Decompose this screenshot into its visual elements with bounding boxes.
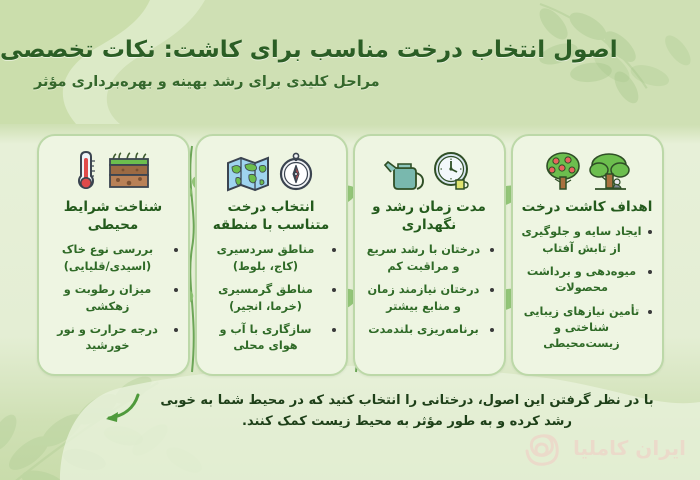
list-item: سازگاری با آب و هوای محلی: [206, 322, 337, 355]
card-icons: [225, 146, 317, 194]
list-item: درختان نیازمند زمان و منابع بیشتر: [364, 282, 495, 315]
list-item: مناطق سردسیری (کاج، بلوط): [206, 242, 337, 275]
card-title: مدت زمان رشد و نگهداری: [364, 198, 495, 234]
card-planting-goals[interactable]: اهداف کاشت درخت ایجاد سایه و جلوگیری از …: [511, 134, 664, 376]
card-title: شناخت شرایط محیطی: [48, 198, 179, 234]
list-item: درختان با رشد سریع و مراقبت کم: [364, 242, 495, 275]
header: اصول انتخاب درخت مناسب برای کاشت: نکات ت…: [0, 0, 700, 128]
compass-icon: [277, 150, 317, 194]
infographic-canvas: اصول انتخاب درخت مناسب برای کاشت: نکات ت…: [0, 0, 700, 480]
watermark: ایران کاملیا: [515, 422, 686, 474]
watering-can-icon: [382, 154, 426, 194]
card-growth-time[interactable]: مدت زمان رشد و نگهداری درختان با رشد سری…: [353, 134, 506, 376]
card-bullet-list: بررسی نوع خاک (اسیدی/قلیایی) میزان رطوبت…: [48, 242, 179, 354]
card-icons: [382, 146, 476, 194]
list-item: میزان رطوبت و زهکشی: [48, 282, 179, 315]
thermometer-icon: [73, 148, 99, 194]
card-bullet-list: مناطق سردسیری (کاج، بلوط) مناطق گرمسیری …: [206, 242, 337, 354]
list-item: بررسی نوع خاک (اسیدی/قلیایی): [48, 242, 179, 275]
curved-arrow-icon: [100, 392, 142, 426]
card-bullet-list: درختان با رشد سریع و مراقبت کم درختان نی…: [364, 242, 495, 338]
fruit-tree-icon: [543, 150, 583, 194]
card-icons: [543, 146, 631, 194]
cards-row: اهداف کاشت درخت ایجاد سایه و جلوگیری از …: [0, 134, 700, 376]
card-title: انتخاب درخت متناسب با منطقه: [206, 198, 337, 234]
card-soil-environment[interactable]: شناخت شرایط محیطی بررسی نوع خاک (اسیدی/ق…: [37, 134, 190, 376]
list-item: مناطق گرمسیری (خرما، انجیر): [206, 282, 337, 315]
list-item: ایجاد سایه و جلوگیری از تابش آفتاب: [522, 224, 653, 257]
rose-logo-icon: [515, 422, 567, 474]
soil-layers-icon: [105, 150, 153, 194]
card-title: اهداف کاشت درخت: [522, 198, 653, 216]
card-region-matching[interactable]: انتخاب درخت متناسب با منطقه مناطق سردسیر…: [195, 134, 348, 376]
clock-icon: [432, 150, 476, 194]
page-title: اصول انتخاب درخت مناسب برای کاشت: نکات ت…: [0, 36, 618, 65]
list-item: میوه‌دهی و برداشت محصولات: [522, 264, 653, 297]
list-item: برنامه‌ریزی بلندمدت: [364, 322, 495, 338]
list-item: درجه حرارت و نور خورشید: [48, 322, 179, 355]
list-item: تأمین نیازهای زیبایی شناختی و زیست‌محیطی: [522, 304, 653, 353]
world-map-icon: [225, 152, 271, 194]
page-subtitle: مراحل کلیدی برای رشد بهینه و بهره‌برداری…: [0, 73, 380, 92]
card-bullet-list: ایجاد سایه و جلوگیری از تابش آفتاب میوه‌…: [522, 224, 653, 353]
watermark-text: ایران کاملیا: [573, 436, 686, 460]
card-icons: [73, 146, 153, 194]
shade-tree-icon: [589, 150, 631, 194]
